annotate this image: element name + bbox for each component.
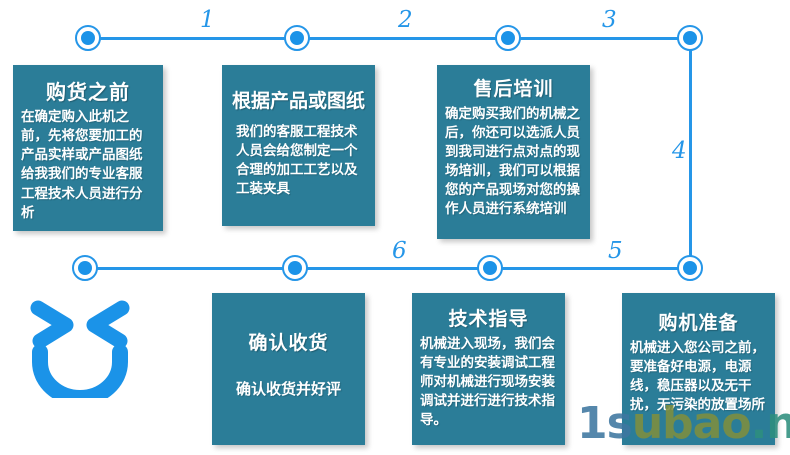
site-watermark: 1subao.net — [577, 398, 790, 449]
card-title: 售后培训 — [445, 77, 582, 103]
watermark-part-c: .net — [751, 398, 790, 449]
process-flow-infographic: 1 2 3 4 5 6 购货之前 在确定购入此机之前，先将您要加工的产品实样或产… — [0, 0, 790, 455]
step-number-3: 3 — [602, 9, 617, 32]
card-title: 根据产品或图纸 — [230, 89, 367, 115]
timeline-node-5[interactable] — [282, 255, 308, 281]
card-title: 技术指导 — [420, 307, 557, 333]
step-card-based-on-product-or-drawing[interactable]: 根据产品或图纸 我们的客服工程技术人员会给您制定一个合理的加工工艺以及工装夹具 — [222, 65, 375, 226]
step-number-5: 5 — [608, 240, 623, 263]
card-body: 确认收货并好评 — [220, 379, 357, 400]
watermark-part-b: ubao — [632, 398, 751, 449]
card-title: 确认收货 — [220, 331, 357, 357]
card-body: 机械进入现场，我们会有专业的安装调试工程师对机械进行现场安装调试并进行进行技术指… — [420, 335, 557, 431]
smiley-face-icon — [30, 296, 130, 398]
card-body: 在确定购入此机之前，先将您要加工的产品实样或产品图纸给我我们的专业客服工程技术人… — [21, 108, 155, 223]
bottom-connector-line — [85, 267, 692, 270]
timeline-node-6[interactable] — [72, 255, 98, 281]
timeline-node-4[interactable] — [477, 255, 503, 281]
step-number-1: 1 — [200, 9, 215, 32]
step-number-6: 6 — [392, 240, 407, 263]
card-body: 确定购买我们的机械之后，你还可以选派人员到我司进行点对点的现场培训，我们可以根据… — [445, 105, 582, 220]
top-connector-line — [88, 37, 692, 40]
step-card-purchase-before[interactable]: 购货之前 在确定购入此机之前，先将您要加工的产品实样或产品图纸给我我们的专业客服… — [13, 65, 163, 231]
timeline-node-3[interactable] — [677, 25, 703, 51]
card-body: 我们的客服工程技术人员会给您制定一个合理的加工工艺以及工装夹具 — [230, 117, 367, 200]
watermark-part-a: 1s — [577, 398, 632, 449]
right-vertical-connector-line — [689, 37, 692, 269]
timeline-node-start[interactable] — [75, 25, 101, 51]
step-card-after-sales-training[interactable]: 售后培训 确定购买我们的机械之后，你还可以选派人员到我司进行点对点的现场培训，我… — [437, 65, 590, 239]
card-title: 购货之前 — [21, 79, 155, 106]
step-number-4: 4 — [672, 140, 687, 163]
step-card-confirm-receipt[interactable]: 确认收货 确认收货并好评 — [212, 293, 365, 445]
timeline-node-1[interactable] — [284, 25, 310, 51]
timeline-node-2[interactable] — [495, 25, 521, 51]
step-number-2: 2 — [398, 9, 413, 32]
step-card-technical-guidance[interactable]: 技术指导 机械进入现场，我们会有专业的安装调试工程师对机械进行现场安装调试并进行… — [412, 293, 565, 445]
card-title: 购机准备 — [630, 311, 767, 337]
timeline-node-end[interactable] — [677, 255, 703, 281]
